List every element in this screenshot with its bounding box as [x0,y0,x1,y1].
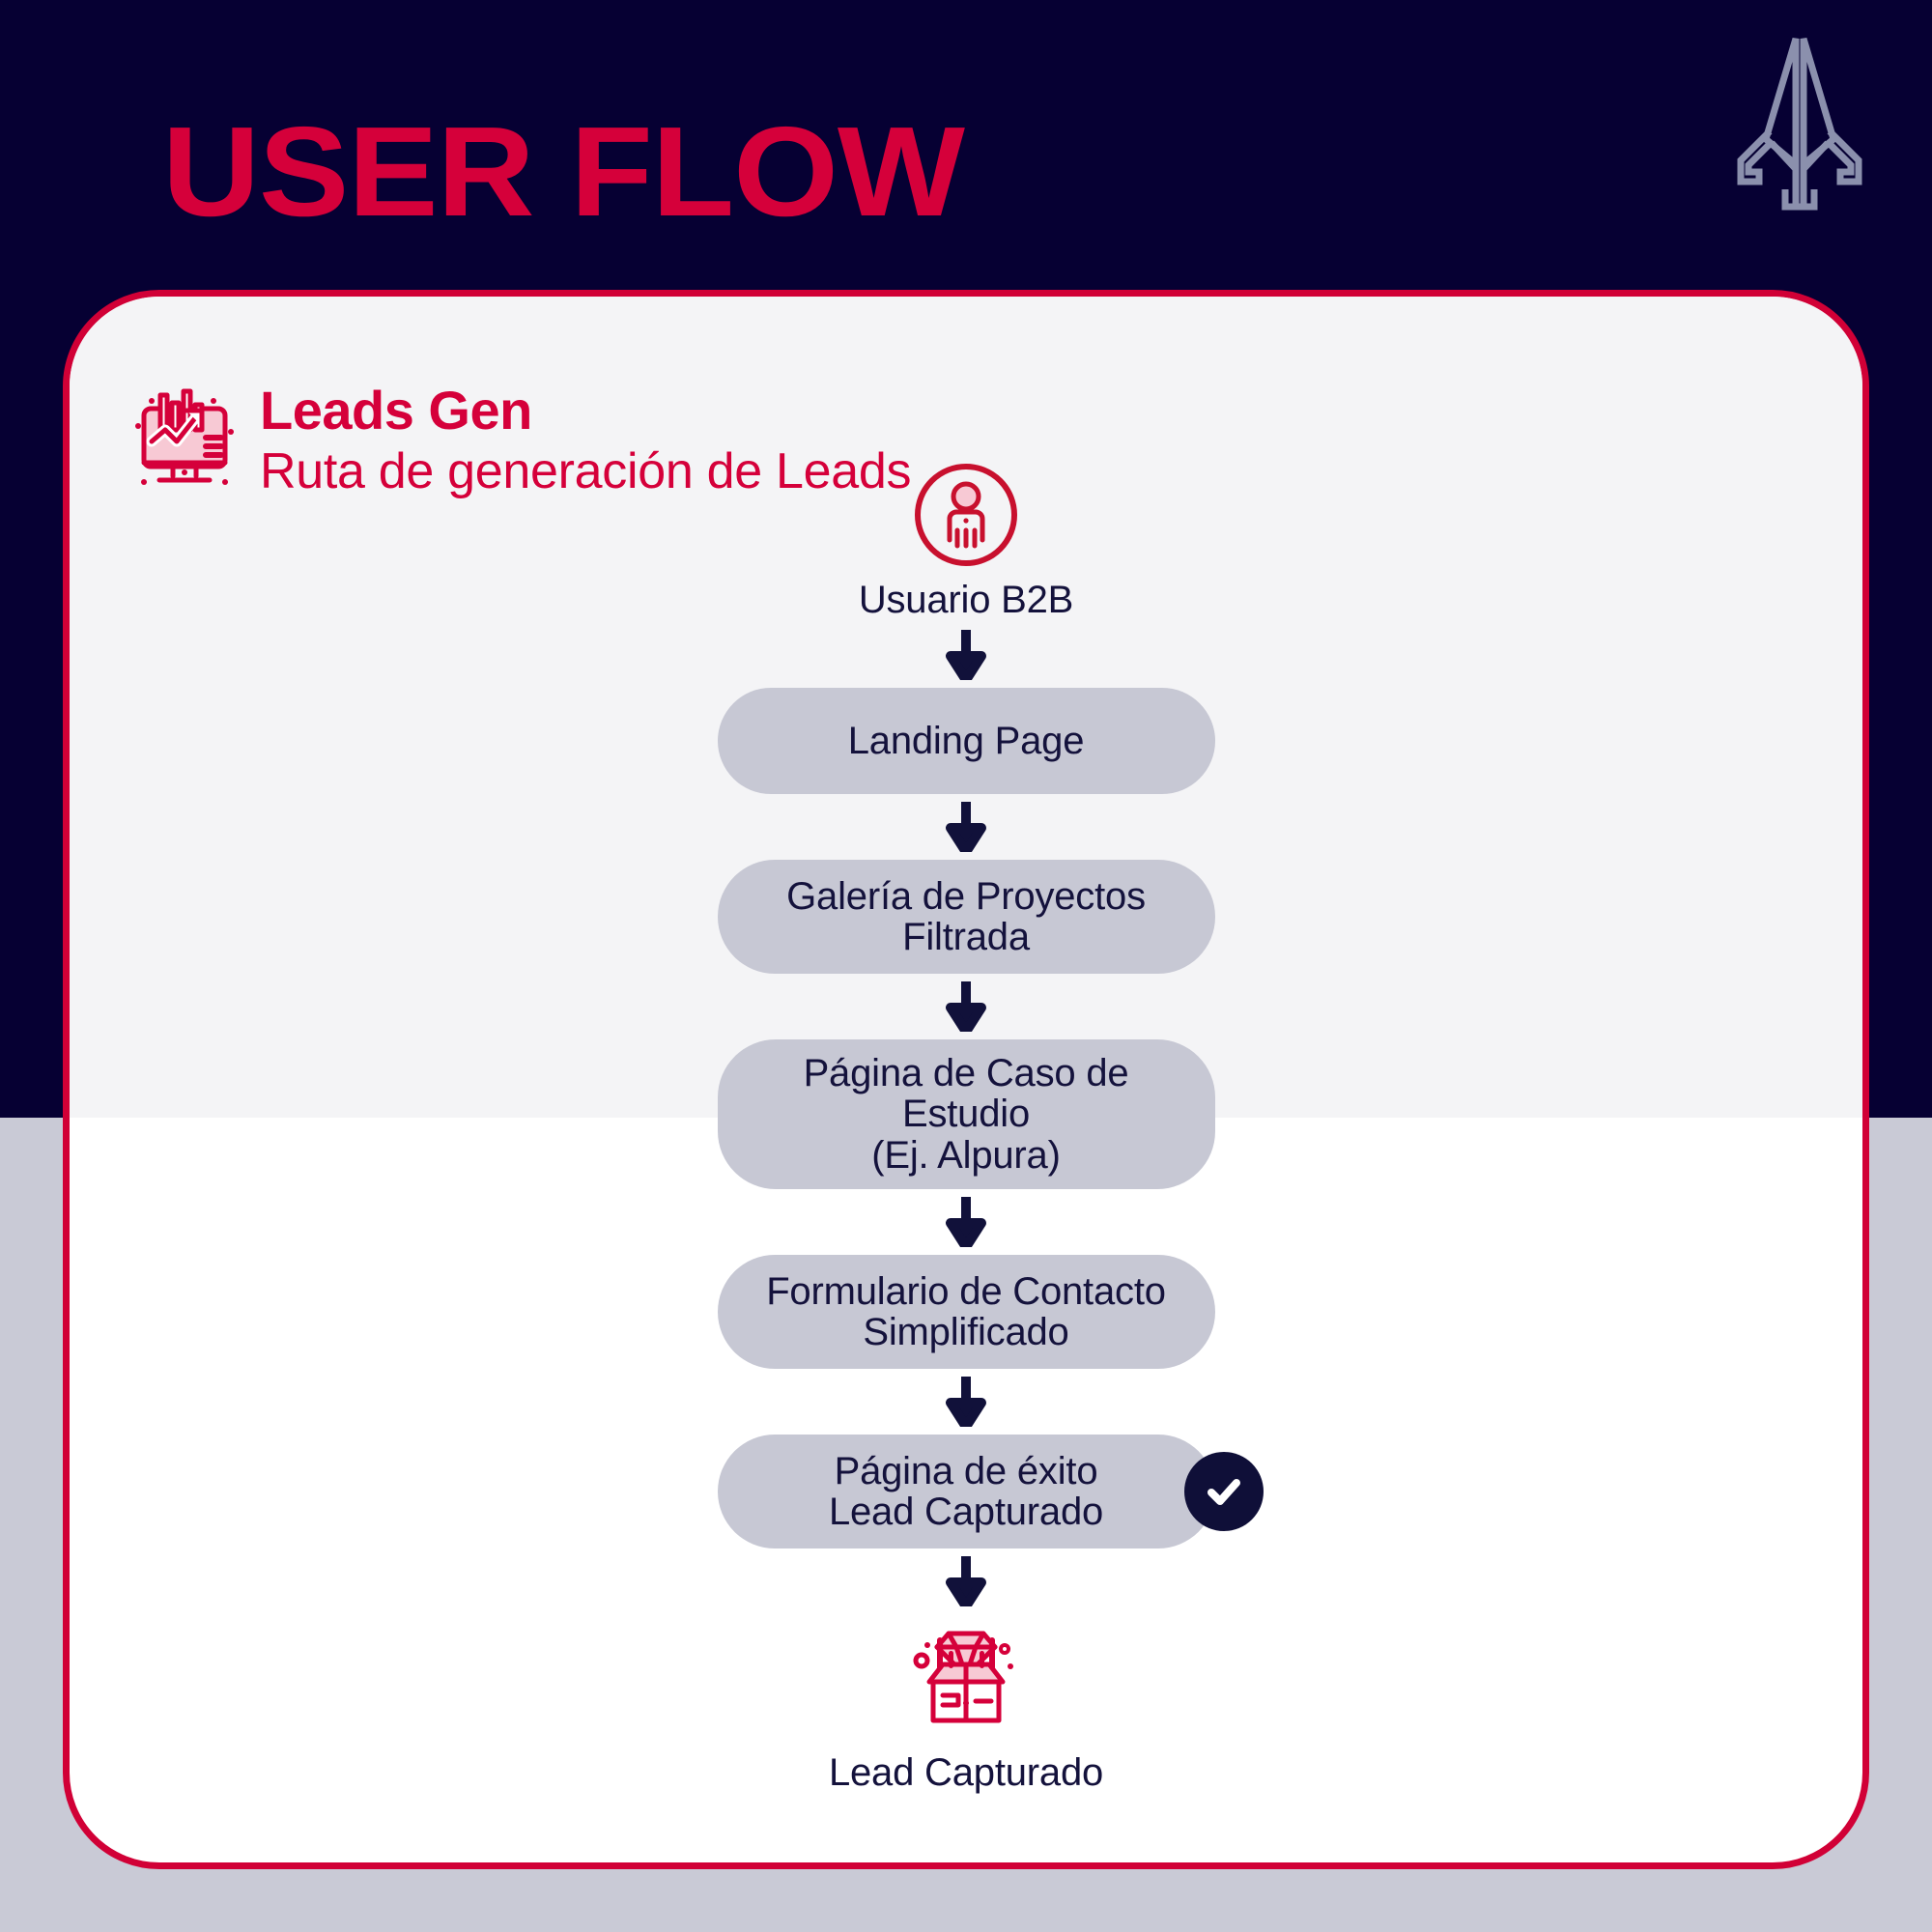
arrow-trident-logo-icon [1727,31,1872,214]
flow-node[interactable]: Página de éxitoLead Capturado [718,1435,1215,1548]
page-title: USER FLOW [162,108,964,236]
flow-node-row: Formulario de ContactoSimplificado [70,1255,1862,1369]
section-title: Leads Gen [260,382,911,439]
flow-arrow-icon [946,981,986,1032]
flow-arrow-icon [946,1197,986,1247]
endpoint-label: Lead Capturado [829,1751,1103,1795]
person-in-circle-icon [912,461,1020,569]
user-flow-diagram: Usuario B2B Landing Page Galería de Proy… [70,461,1862,1795]
flow-arrow-icon [946,1556,986,1606]
flow-arrow-icon [946,630,986,680]
flow-node[interactable]: Landing Page [718,688,1215,794]
flow-node-row: Galería de ProyectosFiltrada [70,860,1862,974]
page-header: USER FLOW [0,0,1932,290]
flow-node-row: Landing Page [70,688,1862,794]
flow-node[interactable]: Galería de ProyectosFiltrada [718,860,1215,974]
flow-arrow-icon [946,802,986,852]
flow-node[interactable]: Página de Caso de Estudio(Ej. Alpura) [718,1039,1215,1189]
check-badge-icon [1184,1452,1264,1531]
flow-actor: Usuario B2B [859,461,1073,622]
flow-endpoint: Lead Capturado [829,1616,1103,1795]
flow-arrow-icon [946,1377,986,1427]
flow-node-row: Página de Caso de Estudio(Ej. Alpura) [70,1039,1862,1189]
actor-label: Usuario B2B [859,579,1073,622]
flow-card: Leads Gen Ruta de generación de Leads Us [63,290,1869,1869]
flow-node-row-success: Página de éxitoLead Capturado [70,1435,1862,1548]
diamond-in-box-icon [904,1616,1028,1740]
flow-node[interactable]: Formulario de ContactoSimplificado [718,1255,1215,1369]
